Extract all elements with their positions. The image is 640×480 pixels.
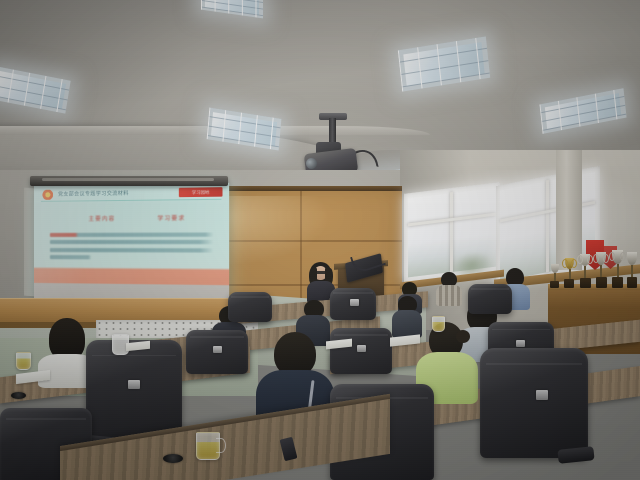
trophy-cup-2 bbox=[577, 254, 592, 288]
trophy-cup-5 bbox=[625, 252, 639, 288]
table-cup-holder[interactable] bbox=[163, 454, 183, 463]
table-cup-holder-2[interactable] bbox=[11, 392, 26, 399]
wall-pillar bbox=[556, 150, 582, 270]
trophy-cup-6 bbox=[548, 264, 561, 288]
trophy-cup-3 bbox=[593, 252, 608, 288]
office-chair-far-1[interactable] bbox=[228, 292, 272, 322]
trophy-cup-1 bbox=[562, 258, 576, 288]
tea-mug-3[interactable] bbox=[432, 316, 445, 332]
tea-mug-handle bbox=[216, 438, 226, 453]
tea-mug-2[interactable] bbox=[16, 352, 31, 370]
office-chair-far-2[interactable] bbox=[330, 288, 376, 320]
screen-glare bbox=[34, 183, 229, 301]
trophy-cup-4 bbox=[609, 250, 625, 288]
office-chair-front-right[interactable] bbox=[480, 348, 588, 480]
ceiling-shadow-right bbox=[430, 0, 640, 170]
office-chair-mid-1[interactable] bbox=[186, 330, 248, 374]
projection-screen: 党支部会议专题学习交流材料 学习园地 主要内容 学习要求 bbox=[34, 183, 229, 301]
office-chair-mid-2[interactable] bbox=[330, 328, 392, 374]
office-chair-far-3[interactable] bbox=[468, 284, 512, 314]
screen-roller-case bbox=[30, 176, 228, 186]
hair-bun bbox=[456, 330, 470, 343]
meeting-room-photo: 党支部会议专题学习交流材料 学习园地 主要内容 学习要求 bbox=[0, 0, 640, 480]
